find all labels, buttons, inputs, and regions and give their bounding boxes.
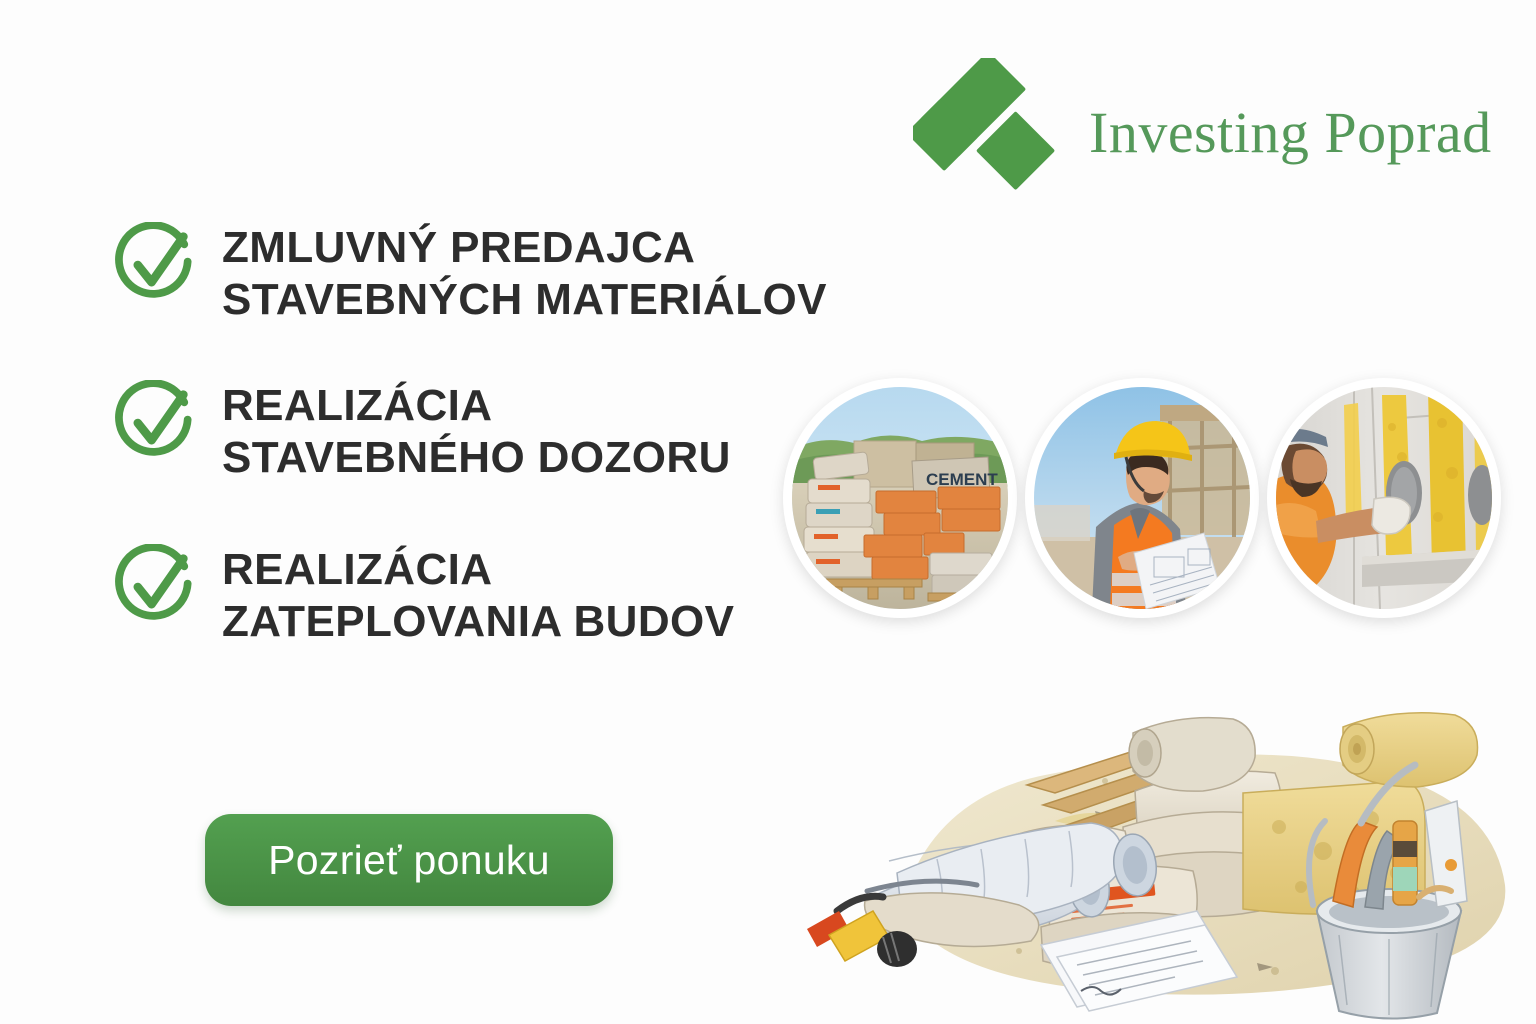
brand-logo[interactable]: Investing Poprad xyxy=(913,58,1492,208)
feature-line-2: ZATEPLOVANIA BUDOV xyxy=(222,596,734,648)
photo-circle-group: CEMENT xyxy=(783,378,1501,618)
promo-banner: Investing Poprad ZMLUVNÝ PREDAJCA STAVEB… xyxy=(0,0,1536,1024)
diamond-blocks-logo-icon xyxy=(913,58,1063,208)
feature-list: ZMLUVNÝ PREDAJCA STAVEBNÝCH MATERIÁLOV R… xyxy=(112,218,892,697)
brand-name: Investing Poprad xyxy=(1089,104,1492,162)
feature-line-1: REALIZÁCIA xyxy=(222,381,492,430)
check-circle-icon xyxy=(112,222,198,308)
check-circle-icon xyxy=(112,544,198,630)
svg-text:CEMENT: CEMENT xyxy=(926,470,998,489)
construction-materials-illustration xyxy=(805,615,1536,1024)
photo-clip xyxy=(1034,387,1250,609)
cta-container: Pozrieť ponuku xyxy=(205,814,613,906)
photo-circle-worker-applying-insulation xyxy=(1267,378,1501,618)
check-circle-icon xyxy=(112,380,198,466)
photo-clip xyxy=(1276,387,1492,609)
feature-line-2: STAVEBNÝCH MATERIÁLOV xyxy=(222,274,827,326)
photo-clip: CEMENT xyxy=(792,387,1008,609)
feature-line-2: STAVEBNÉHO DOZORU xyxy=(222,432,731,484)
feature-item: REALIZÁCIA STAVEBNÉHO DOZORU xyxy=(112,376,892,484)
feature-item: ZMLUVNÝ PREDAJCA STAVEBNÝCH MATERIÁLOV xyxy=(112,218,892,326)
feature-line-1: ZMLUVNÝ PREDAJCA xyxy=(222,223,695,272)
feature-item: REALIZÁCIA ZATEPLOVANIA BUDOV xyxy=(112,540,892,648)
feature-label: REALIZÁCIA STAVEBNÉHO DOZORU xyxy=(222,376,731,484)
feature-label: ZMLUVNÝ PREDAJCA STAVEBNÝCH MATERIÁLOV xyxy=(222,218,827,326)
feature-line-1: REALIZÁCIA xyxy=(222,545,492,594)
photo-circle-site-supervisor-with-blueprints xyxy=(1025,378,1259,618)
view-offer-button[interactable]: Pozrieť ponuku xyxy=(205,814,613,906)
feature-label: REALIZÁCIA ZATEPLOVANIA BUDOV xyxy=(222,540,734,648)
photo-circle-cement-bags-and-bricks: CEMENT xyxy=(783,378,1017,618)
